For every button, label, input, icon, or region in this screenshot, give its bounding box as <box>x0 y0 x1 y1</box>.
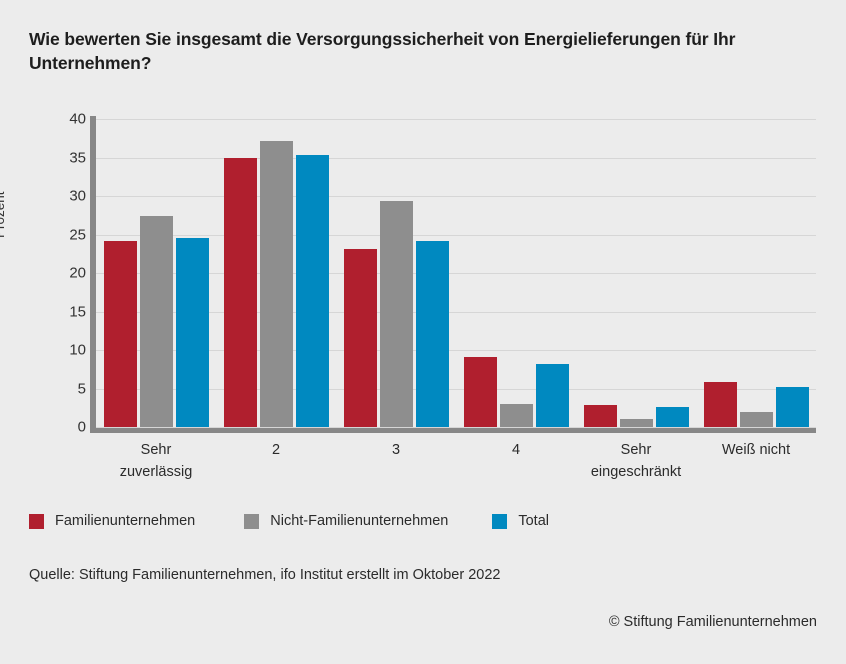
y-axis-tick-label: 0 <box>34 419 86 436</box>
bar <box>776 387 809 427</box>
y-axis-tick-label: 35 <box>34 149 86 166</box>
bar <box>104 241 137 427</box>
bar <box>176 238 209 427</box>
y-axis-tick-label: 10 <box>34 342 86 359</box>
bar <box>584 405 617 427</box>
x-axis-tick-label: 3 <box>336 440 456 462</box>
bar <box>464 357 497 427</box>
legend-label: Familienunternehmen <box>55 513 195 529</box>
gridline <box>96 427 816 428</box>
x-axis-tick-label: Sehr eingeschränkt <box>576 440 696 484</box>
y-axis-tick-label: 25 <box>34 226 86 243</box>
y-axis-tick-label: 30 <box>34 188 86 205</box>
x-axis-labels: Sehr zuverlässig234Sehr eingeschränktWei… <box>96 440 816 492</box>
bar-group <box>456 119 576 427</box>
x-axis-tick-label: 2 <box>216 440 336 462</box>
bar <box>416 241 449 427</box>
plot-area <box>96 119 816 427</box>
legend-swatch-icon <box>29 514 44 529</box>
bar-group <box>696 119 816 427</box>
y-axis-ticks: 0510152025303540 <box>26 119 86 427</box>
bar <box>260 141 293 427</box>
chart-legend: FamilienunternehmenNicht-Familienunterne… <box>29 513 549 529</box>
bar-group <box>576 119 696 427</box>
bar <box>656 407 689 427</box>
bar <box>380 201 413 427</box>
y-axis-tick-label: 20 <box>34 265 86 282</box>
legend-label: Nicht-Familienunternehmen <box>270 513 448 529</box>
bar-group <box>216 119 336 427</box>
y-axis-title: Prozent <box>0 191 7 238</box>
bar-group <box>336 119 456 427</box>
bar-series-container <box>96 119 816 427</box>
bar <box>500 404 533 427</box>
x-axis-tick-label: Weiß nicht <box>696 440 816 462</box>
x-axis-tick-label: Sehr zuverlässig <box>96 440 216 484</box>
x-axis-tick-label: 4 <box>456 440 576 462</box>
legend-item[interactable]: Total <box>492 513 549 529</box>
bar <box>536 364 569 427</box>
bar <box>296 155 329 427</box>
bar-chart: Prozent 0510152025303540 Sehr zuverlässi… <box>0 0 846 500</box>
copyright-note: © Stiftung Familienunternehmen <box>609 614 817 630</box>
bar <box>620 419 653 427</box>
legend-item[interactable]: Nicht-Familienunternehmen <box>244 513 448 529</box>
legend-swatch-icon <box>244 514 259 529</box>
y-axis-tick-label: 5 <box>34 380 86 397</box>
y-axis-tick-label: 40 <box>34 111 86 128</box>
bar <box>344 249 377 427</box>
source-note: Quelle: Stiftung Familienunternehmen, if… <box>29 567 500 583</box>
y-axis-tick-label: 15 <box>34 303 86 320</box>
bar <box>224 158 257 428</box>
bar <box>140 216 173 427</box>
bar <box>740 412 773 427</box>
legend-label: Total <box>518 513 549 529</box>
bar-group <box>96 119 216 427</box>
bar <box>704 382 737 427</box>
legend-swatch-icon <box>492 514 507 529</box>
legend-item[interactable]: Familienunternehmen <box>29 513 195 529</box>
